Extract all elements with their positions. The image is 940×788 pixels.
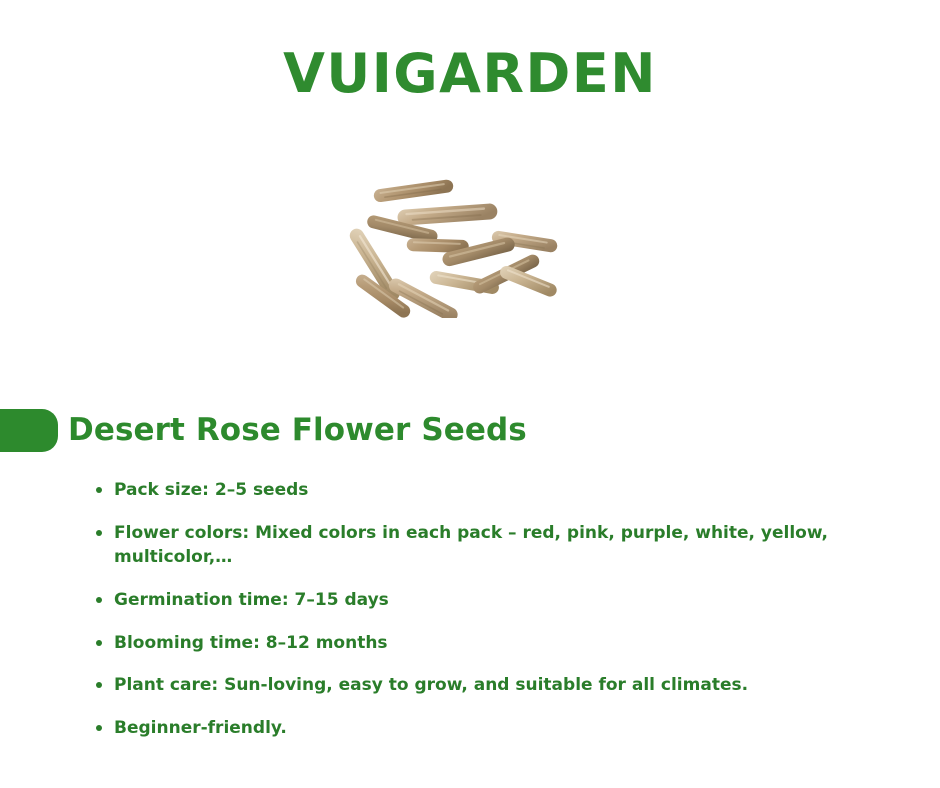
list-item: Germination time: 7–15 days <box>90 588 890 613</box>
bullet-icon <box>96 487 102 493</box>
list-item-label: Flower colors: Mixed colors in each pack… <box>114 521 890 570</box>
list-item: Blooming time: 8–12 months <box>90 631 890 656</box>
list-item-label: Germination time: 7–15 days <box>114 588 890 613</box>
brand-title: VUIGARDEN <box>0 46 940 103</box>
heading-accent-tab <box>0 409 58 452</box>
list-item: Plant care: Sun-loving, easy to grow, an… <box>90 673 890 698</box>
list-item: Pack size: 2–5 seeds <box>90 478 890 503</box>
list-item: Beginner-friendly. <box>90 716 890 741</box>
feature-list: Pack size: 2–5 seeds Flower colors: Mixe… <box>90 478 890 740</box>
seed-cluster-icon <box>347 179 559 318</box>
bullet-icon <box>96 530 102 536</box>
list-item-label: Beginner-friendly. <box>114 716 890 741</box>
list-item-label: Pack size: 2–5 seeds <box>114 478 890 503</box>
section-heading: Desert Rose Flower Seeds <box>0 404 940 456</box>
page-title: Desert Rose Flower Seeds <box>68 404 527 456</box>
bullet-icon <box>96 597 102 603</box>
list-item-label: Plant care: Sun-loving, easy to grow, an… <box>114 673 890 698</box>
bullet-icon <box>96 725 102 731</box>
product-card-page: VUIGARDEN <box>0 0 940 788</box>
list-item-label: Blooming time: 8–12 months <box>114 631 890 656</box>
product-image <box>345 168 585 318</box>
bullet-icon <box>96 682 102 688</box>
bullet-icon <box>96 640 102 646</box>
list-item: Flower colors: Mixed colors in each pack… <box>90 521 890 570</box>
